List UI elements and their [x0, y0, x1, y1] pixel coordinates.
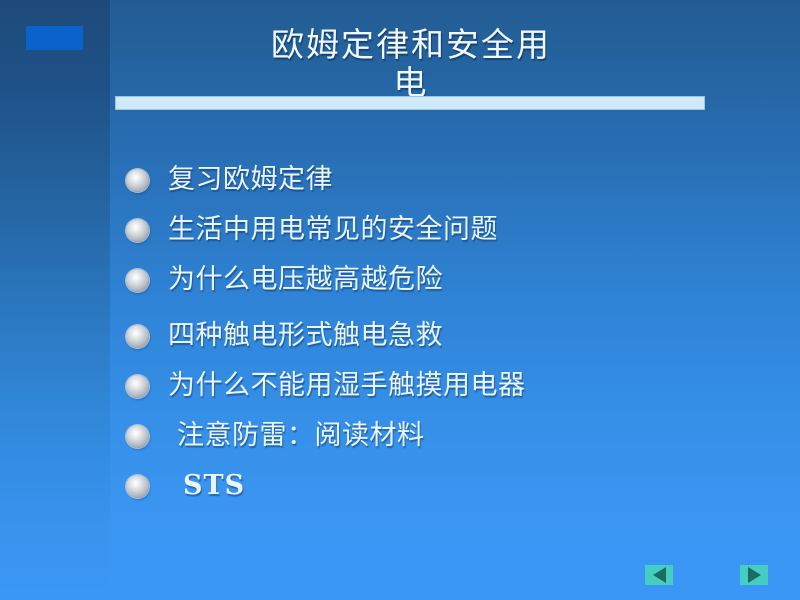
slide-sidebar-band [0, 0, 110, 600]
list-item[interactable]: STS [126, 461, 766, 511]
list-item-label: STS [183, 471, 245, 501]
list-item[interactable]: 复习欧姆定律 [126, 155, 766, 205]
list-item-label: 复习欧姆定律 [168, 165, 333, 195]
list-item-label: 注意防雷：阅读材料 [177, 421, 425, 451]
list-item[interactable]: 生活中用电常见的安全问题 [126, 205, 766, 255]
presentation-slide: 欧姆定律和安全用 电 复习欧姆定律 生活中用电常见的安全问题 为什么电压越高越危… [0, 0, 800, 600]
title-divider-bar [115, 96, 705, 110]
sphere-bullet-icon [126, 169, 149, 192]
slide-title-line-1: 欧姆定律和安全用 [118, 26, 704, 64]
list-item[interactable]: 四种触电形式触电急救 [126, 311, 766, 361]
sphere-bullet-icon [126, 269, 149, 292]
agenda-bullet-list: 复习欧姆定律 生活中用电常见的安全问题 为什么电压越高越危险 四种触电形式触电急… [126, 155, 766, 511]
list-item[interactable]: 为什么不能用湿手触摸用电器 [126, 361, 766, 411]
slide-title: 欧姆定律和安全用 电 [118, 26, 704, 102]
sidebar-accent-rectangle [26, 26, 83, 50]
triangle-right-icon [748, 567, 761, 583]
sphere-bullet-icon [126, 219, 149, 242]
triangle-left-icon [653, 567, 666, 583]
list-item-label: 生活中用电常见的安全问题 [168, 215, 498, 245]
list-item[interactable]: 注意防雷：阅读材料 [126, 411, 766, 461]
list-item-label: 四种触电形式触电急救 [168, 321, 443, 351]
sphere-bullet-icon [126, 325, 149, 348]
sphere-bullet-icon [126, 475, 149, 498]
list-item-label: 为什么电压越高越危险 [168, 265, 443, 295]
list-item[interactable]: 为什么电压越高越危险 [126, 255, 766, 305]
sphere-bullet-icon [126, 425, 149, 448]
previous-slide-button[interactable] [645, 565, 673, 585]
sphere-bullet-icon [126, 375, 149, 398]
next-slide-button[interactable] [740, 565, 768, 585]
list-item-label: 为什么不能用湿手触摸用电器 [168, 371, 526, 401]
